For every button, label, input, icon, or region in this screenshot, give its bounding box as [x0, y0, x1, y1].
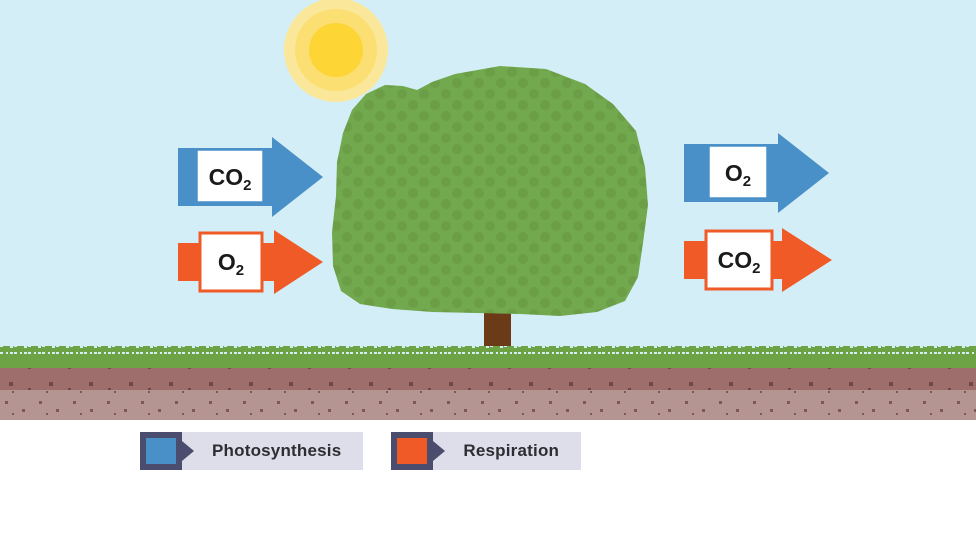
legend-swatch-respiration [397, 438, 427, 464]
legend-photosynthesis[interactable]: Photosynthesis [140, 432, 363, 470]
legend-label-photosynthesis: Photosynthesis [182, 432, 363, 470]
legend: Photosynthesis Respiration [0, 420, 976, 549]
diagram-scene: CO2 O2 O2 CO2 [0, 0, 976, 420]
legend-marker-respiration [391, 432, 433, 470]
legend-label-respiration: Respiration [433, 432, 581, 470]
grass-edge [0, 346, 976, 354]
soil-bottom-layer [0, 390, 976, 420]
legend-swatch-photosynthesis [146, 438, 176, 464]
legend-row: Photosynthesis Respiration [140, 432, 581, 470]
soil-top-layer [0, 368, 976, 390]
tree-canopy [332, 66, 648, 316]
legend-marker-photosynthesis [140, 432, 182, 470]
scene-svg: CO2 O2 O2 CO2 [0, 0, 976, 420]
sun-icon [284, 0, 388, 102]
legend-respiration[interactable]: Respiration [391, 432, 581, 470]
